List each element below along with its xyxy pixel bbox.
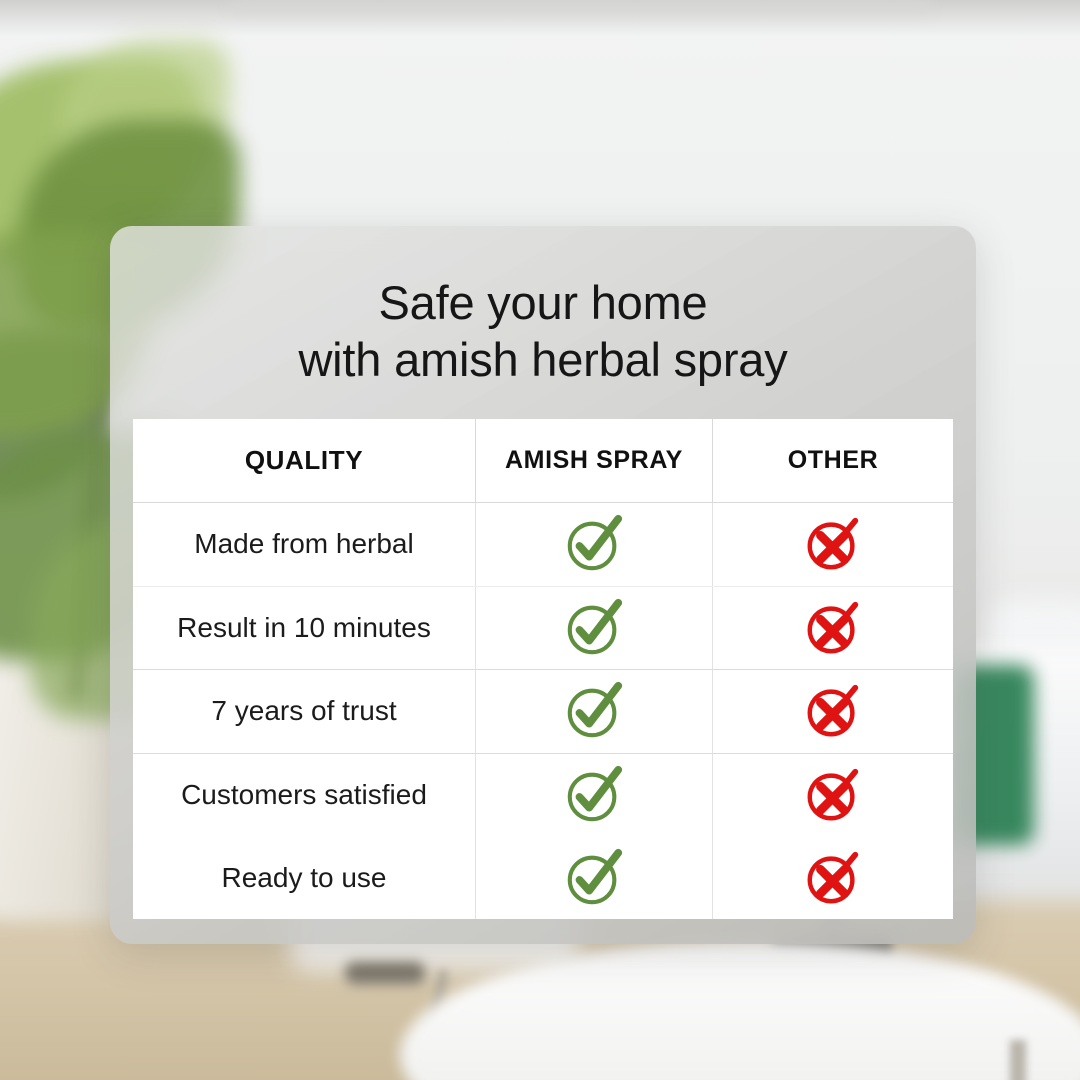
- table-row: 7 years of trust: [133, 669, 953, 753]
- row-label: Ready to use: [222, 862, 387, 894]
- row-label: Made from herbal: [194, 528, 413, 560]
- cross-circle-icon: [802, 764, 864, 826]
- column-header-other: OTHER: [712, 419, 953, 502]
- column-header-amish-spray-label: AMISH SPRAY: [505, 446, 683, 475]
- cross-circle-icon: [802, 680, 864, 742]
- other-value-cell: [712, 754, 953, 837]
- coffee-table-leg: [1010, 1040, 1026, 1080]
- page-title-line-2: with amish herbal spray: [110, 331, 976, 388]
- check-circle-icon: [563, 513, 625, 575]
- floor-shadow: [345, 962, 425, 984]
- other-value-cell: [712, 503, 953, 586]
- check-circle-icon: [563, 764, 625, 826]
- amish-value-cell: [475, 670, 712, 753]
- column-header-amish-spray: AMISH SPRAY: [475, 419, 712, 502]
- row-label-cell: 7 years of trust: [133, 670, 475, 753]
- check-circle-icon: [563, 680, 625, 742]
- row-label-cell: Made from herbal: [133, 503, 475, 586]
- other-value-cell: [712, 670, 953, 753]
- row-label: 7 years of trust: [211, 695, 396, 727]
- row-label-cell: Ready to use: [133, 836, 475, 919]
- cross-circle-icon: [802, 597, 864, 659]
- column-header-other-label: OTHER: [788, 446, 879, 475]
- table-row: Ready to use: [133, 836, 953, 919]
- other-value-cell: [712, 836, 953, 919]
- page-title-line-1: Safe your home: [110, 274, 976, 331]
- cross-circle-icon: [802, 847, 864, 909]
- table-row: Result in 10 minutes: [133, 586, 953, 670]
- check-circle-icon: [563, 597, 625, 659]
- wall-panel-line: [230, 0, 930, 18]
- amish-value-cell: [475, 836, 712, 919]
- row-label: Result in 10 minutes: [177, 612, 431, 644]
- table-row: Customers satisfied: [133, 753, 953, 837]
- comparison-card: Safe your home with amish herbal spray Q…: [110, 226, 976, 944]
- row-label-cell: Customers satisfied: [133, 754, 475, 837]
- table-header-row: QUALITY AMISH SPRAY OTHER: [133, 419, 953, 503]
- table-row: Made from herbal: [133, 503, 953, 586]
- cross-circle-icon: [802, 513, 864, 575]
- column-header-quality: QUALITY: [133, 419, 475, 502]
- amish-value-cell: [475, 503, 712, 586]
- column-header-quality-label: QUALITY: [245, 445, 363, 476]
- other-value-cell: [712, 587, 953, 670]
- amish-value-cell: [475, 587, 712, 670]
- amish-value-cell: [475, 754, 712, 837]
- comparison-table: QUALITY AMISH SPRAY OTHER Made from herb…: [133, 419, 953, 919]
- row-label-cell: Result in 10 minutes: [133, 587, 475, 670]
- check-circle-icon: [563, 847, 625, 909]
- row-label: Customers satisfied: [181, 779, 427, 811]
- page-title: Safe your home with amish herbal spray: [110, 274, 976, 389]
